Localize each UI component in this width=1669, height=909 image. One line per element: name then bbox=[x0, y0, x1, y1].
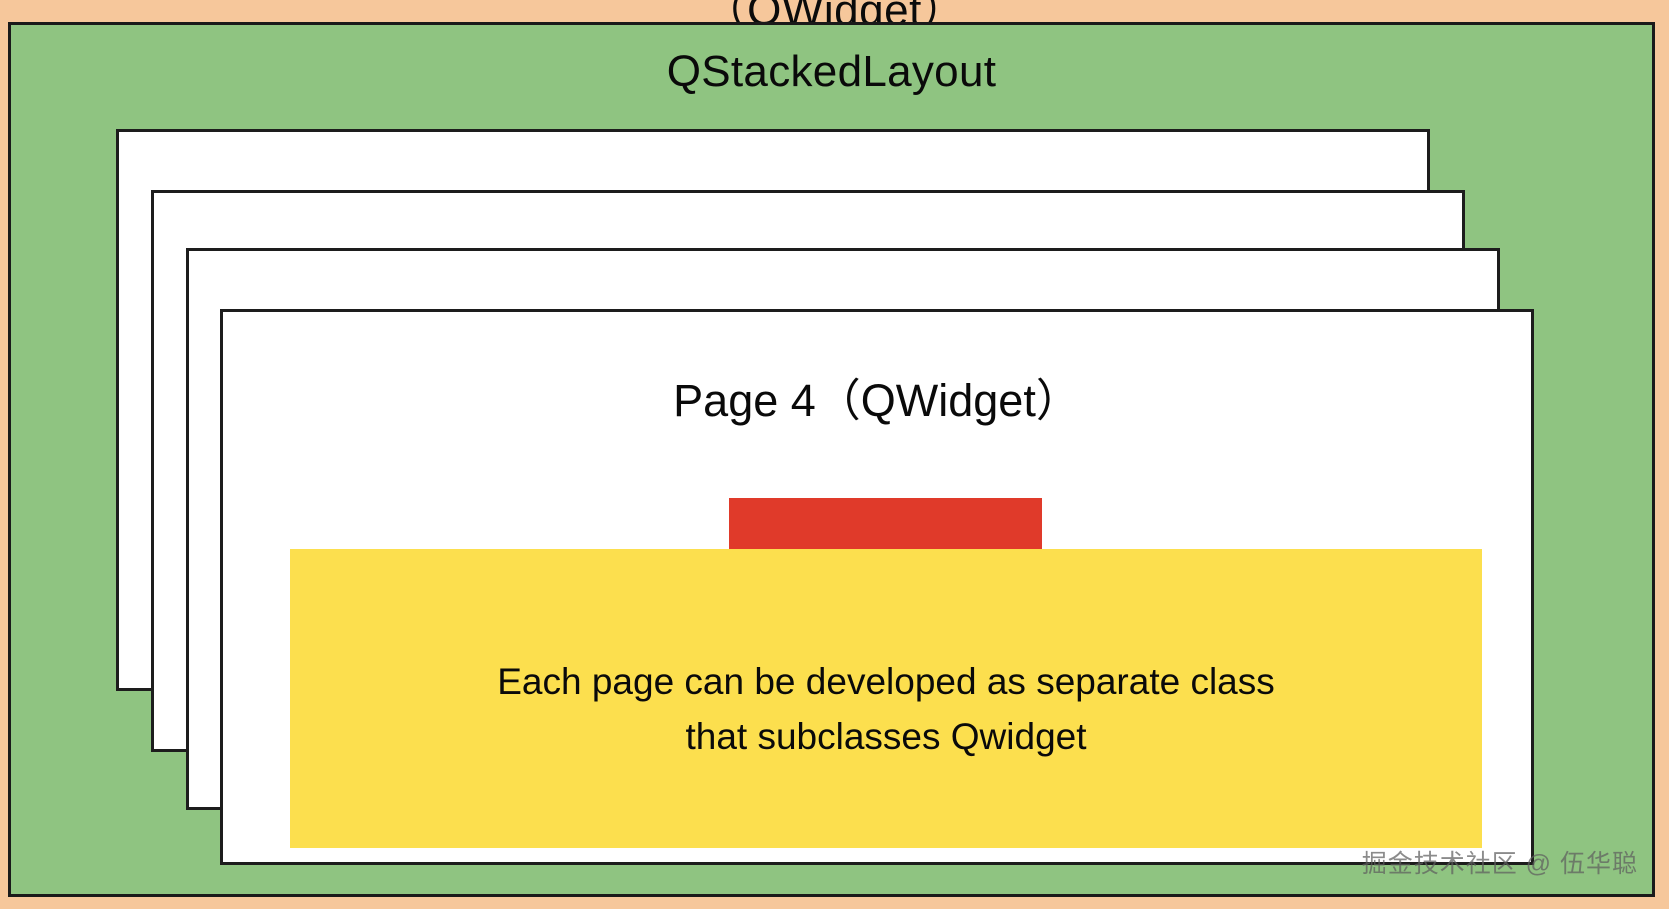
watermark-label: 掘金技术社区 @ 伍华聪 bbox=[1362, 844, 1638, 880]
qstackedlayout-title: QStackedLayout bbox=[11, 47, 1652, 97]
yellow-note-block: Each page can be developed as separate c… bbox=[290, 549, 1482, 848]
stacked-page-4-active[interactable]: Page 4（QWidget） Each page can be develop… bbox=[220, 309, 1534, 865]
qstackedlayout-container: QStackedLayout Page 4（QWidget） Each page… bbox=[8, 22, 1655, 897]
yellow-note-text: Each page can be developed as separate c… bbox=[475, 655, 1297, 764]
yellow-note-line-2: that subclasses Qwidget bbox=[497, 710, 1275, 764]
yellow-note-line-1: Each page can be developed as separate c… bbox=[497, 655, 1275, 709]
diagram-canvas: （QWidget） QStackedLayout Page 4（QWidget）… bbox=[0, 0, 1669, 909]
page-4-heading: Page 4（QWidget） bbox=[223, 364, 1531, 429]
